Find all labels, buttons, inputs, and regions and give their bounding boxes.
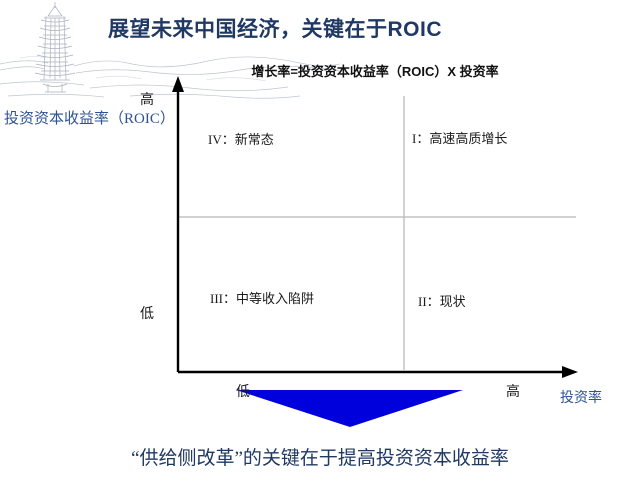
slide-canvas: 展望未来中国经济，关键在于ROIC 增长率=投资资本收益率（ROIC）X 投资率… — [0, 0, 640, 487]
x-axis-tick-low: 低 — [236, 381, 250, 401]
y-axis-arrowhead — [172, 76, 184, 92]
x-axis-tick-high: 高 — [506, 381, 520, 401]
quadrant-label-i: I：高速高质增长 — [412, 128, 507, 147]
y-axis-tick-low: 低 — [140, 303, 154, 323]
x-axis-title: 投资率 — [560, 387, 602, 407]
y-axis-title: 投资资本收益率（ROIC） — [4, 107, 175, 128]
chart-subtitle-formula: 增长率=投资资本收益率（ROIC）X 投资率 — [205, 61, 545, 80]
page-title: 展望未来中国经济，关键在于ROIC — [108, 13, 578, 43]
x-axis-arrowhead — [562, 366, 578, 378]
quadrant-label-ii: II：现状 — [418, 291, 466, 310]
y-axis-tick-high: 高 — [140, 89, 154, 109]
quadrant-label-iii: III：中等收入陷阱 — [210, 288, 314, 307]
conclusion-caption: “供给侧改革”的关键在于提高投资资本收益率 — [0, 443, 640, 470]
down-triangle-marker — [236, 390, 463, 427]
quadrant-label-iv: IV：新常态 — [208, 129, 274, 148]
